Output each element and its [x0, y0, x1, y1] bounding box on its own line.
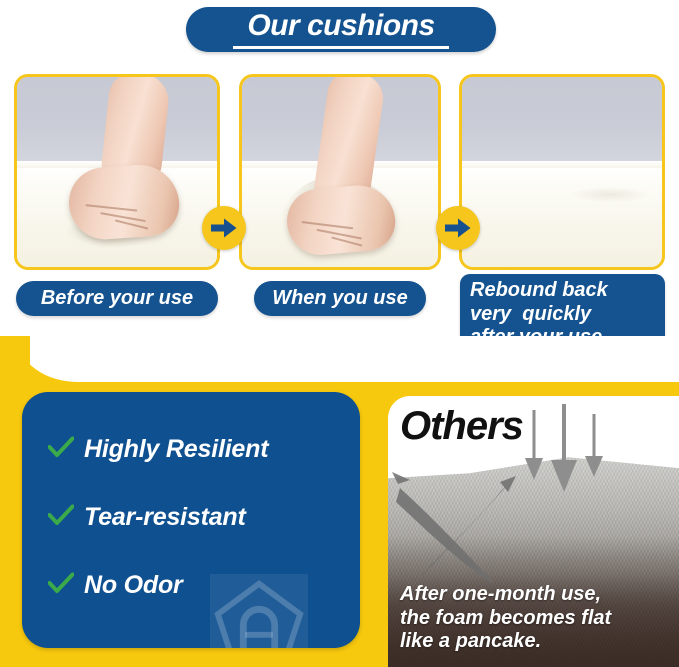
others-caption-line-1: After one-month use, — [400, 583, 611, 606]
arrow-down-icon — [551, 404, 577, 492]
white-curve-notch-fill — [0, 336, 30, 382]
feature-item: Highly Resilient — [48, 432, 268, 466]
demo-caption-1-label: Before your use — [41, 287, 193, 310]
title-underline — [233, 46, 449, 49]
demo-caption-2-label: When you use — [272, 287, 408, 310]
others-comparison-panel: Others — [388, 396, 679, 667]
demo-caption-2: When you use — [254, 281, 426, 316]
check-icon — [48, 572, 74, 599]
fist — [284, 183, 397, 258]
feature-label: No Odor — [84, 571, 183, 600]
feature-item: Tear-resistant — [48, 500, 268, 534]
demo-caption-3-line-1: Rebound back — [470, 279, 608, 303]
feature-label: Highly Resilient — [84, 435, 268, 464]
step-arrow-badge-1 — [202, 206, 246, 250]
demo-photo-3 — [459, 74, 665, 270]
others-caption: After one-month use, the foam becomes fl… — [400, 583, 611, 653]
feature-label: Tear-resistant — [84, 503, 246, 532]
arrow-down-icon — [585, 414, 603, 477]
photo-background-wall — [462, 77, 662, 166]
arrow-right-icon — [445, 218, 471, 238]
check-icon — [48, 504, 74, 531]
page-title: Our cushions — [247, 11, 434, 43]
others-caption-line-3: like a pancake. — [400, 630, 611, 653]
demo-photo-row — [0, 74, 679, 270]
foam-slab — [462, 161, 662, 267]
page-title-pill: Our cushions — [186, 7, 496, 52]
features-panel: Highly Resilient Tear-resistant No Odor — [22, 392, 360, 648]
demo-caption-3-line-2: very quickly — [470, 303, 608, 327]
check-icon — [48, 436, 74, 463]
demo-caption-1: Before your use — [16, 281, 218, 316]
pentagon-house-logo-watermark — [210, 574, 308, 648]
arrow-right-icon — [211, 218, 237, 238]
demo-photo-1 — [14, 74, 220, 270]
foam-top-edge — [462, 161, 662, 168]
demo-photo-2 — [239, 74, 441, 270]
infographic-stage: Our cushions — [0, 0, 679, 667]
downward-pressure-arrows — [524, 404, 664, 496]
white-curve-notch — [18, 336, 679, 382]
others-caption-line-2: the foam becomes flat — [400, 607, 611, 630]
fist — [67, 163, 182, 242]
others-title: Others — [400, 406, 523, 446]
step-arrow-badge-2 — [436, 206, 480, 250]
